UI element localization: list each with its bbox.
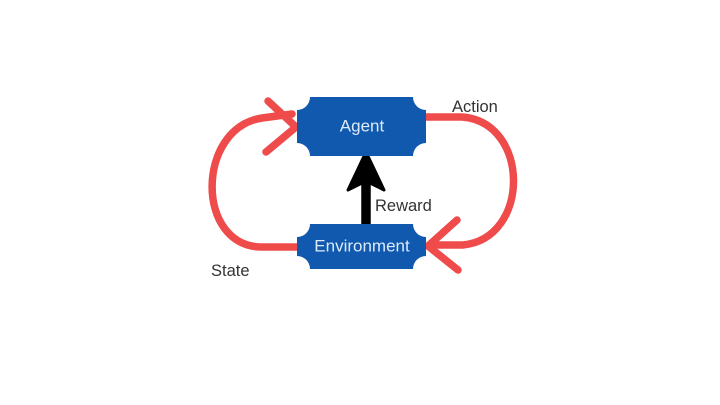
agent-label: Agent	[340, 116, 385, 135]
reward-label: Reward	[375, 197, 432, 215]
diagram-canvas: Agent Environment Action State Reward	[0, 0, 720, 405]
state-label: State	[211, 262, 250, 280]
node-agent[interactable]: Agent	[297, 97, 426, 156]
action-curve-path	[426, 117, 514, 245]
edge-action	[426, 117, 514, 270]
rl-loop-diagram: Agent Environment Action State Reward	[0, 0, 720, 405]
state-arrowhead-icon	[266, 101, 296, 152]
node-environment[interactable]: Environment	[297, 224, 426, 269]
action-label: Action	[452, 98, 498, 116]
environment-label: Environment	[314, 236, 410, 255]
edge-state	[212, 101, 297, 247]
